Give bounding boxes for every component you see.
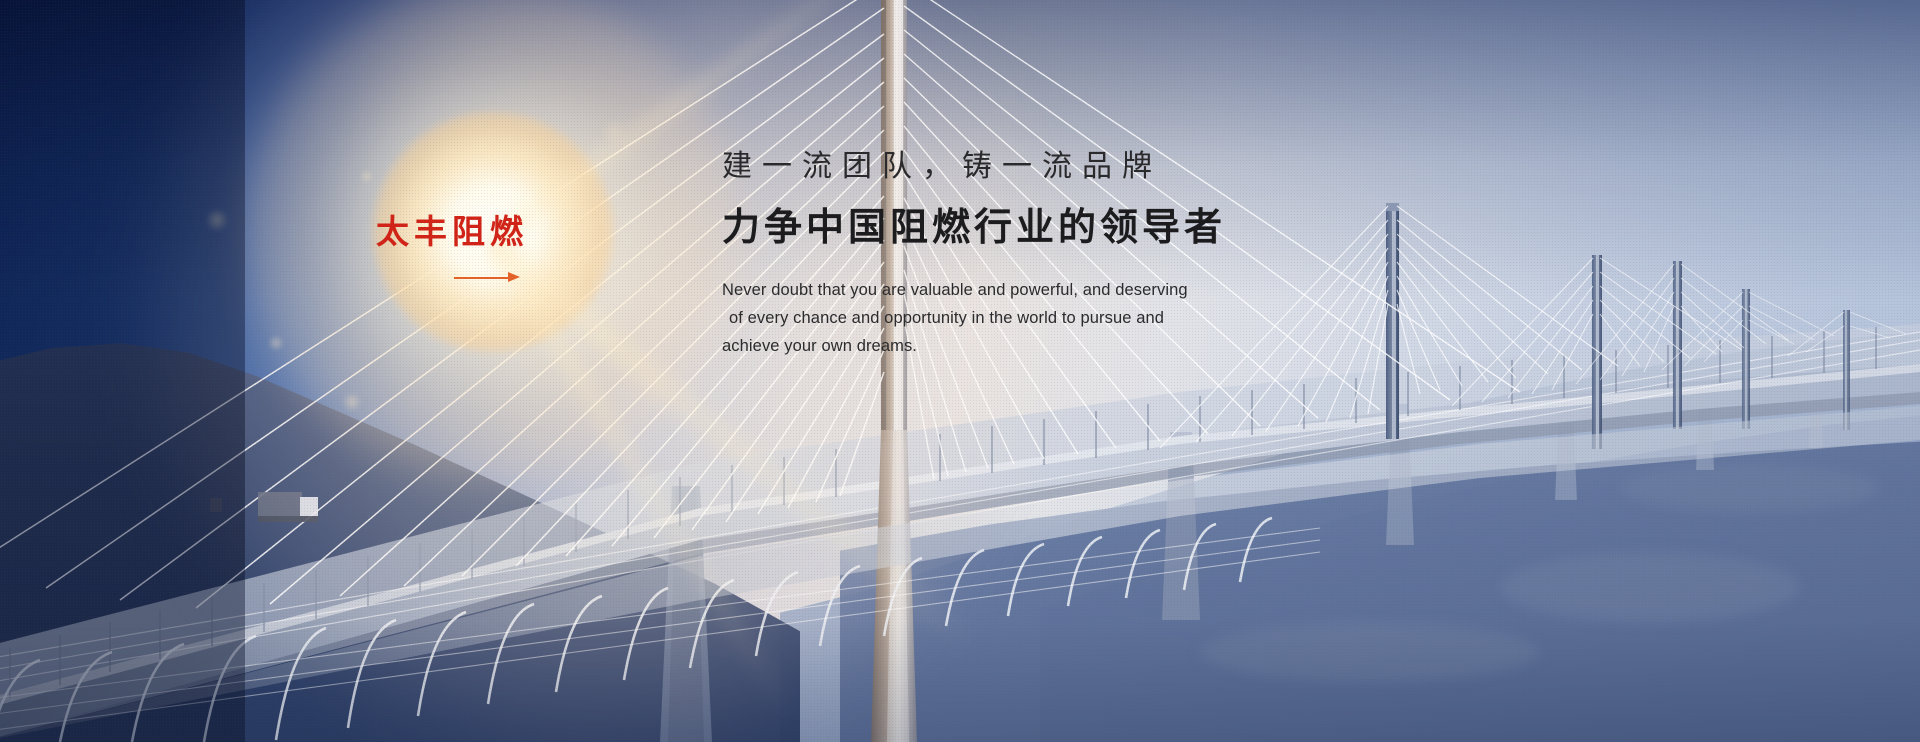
- hero-banner: 太丰阻燃 建一流团队，铸一流品牌 力争中国阻燃行业的领导者 Never doub…: [0, 0, 1920, 742]
- arrow-right-icon: [454, 271, 520, 283]
- headline-subtitle: 建一流团队，铸一流品牌: [722, 150, 1342, 183]
- tagline-line-3: achieve your own dreams.: [722, 332, 1342, 360]
- headline-title: 力争中国阻燃行业的领导者: [722, 206, 1342, 250]
- brand-logo-text: 太丰阻燃: [376, 215, 556, 248]
- tagline-line-1: Never doubt that you are valuable and po…: [722, 276, 1342, 304]
- arrow-head: [508, 272, 520, 282]
- banner-content: 太丰阻燃 建一流团队，铸一流品牌 力争中国阻燃行业的领导者 Never doub…: [0, 0, 1920, 742]
- tagline-line-2: of every chance and opportunity in the w…: [722, 304, 1342, 332]
- headline-block: 建一流团队，铸一流品牌 力争中国阻燃行业的领导者 Never doubt tha…: [722, 150, 1342, 361]
- brand-logo[interactable]: 太丰阻燃: [376, 215, 556, 283]
- arrow-shaft: [454, 277, 512, 279]
- tagline-paragraph: Never doubt that you are valuable and po…: [722, 276, 1342, 361]
